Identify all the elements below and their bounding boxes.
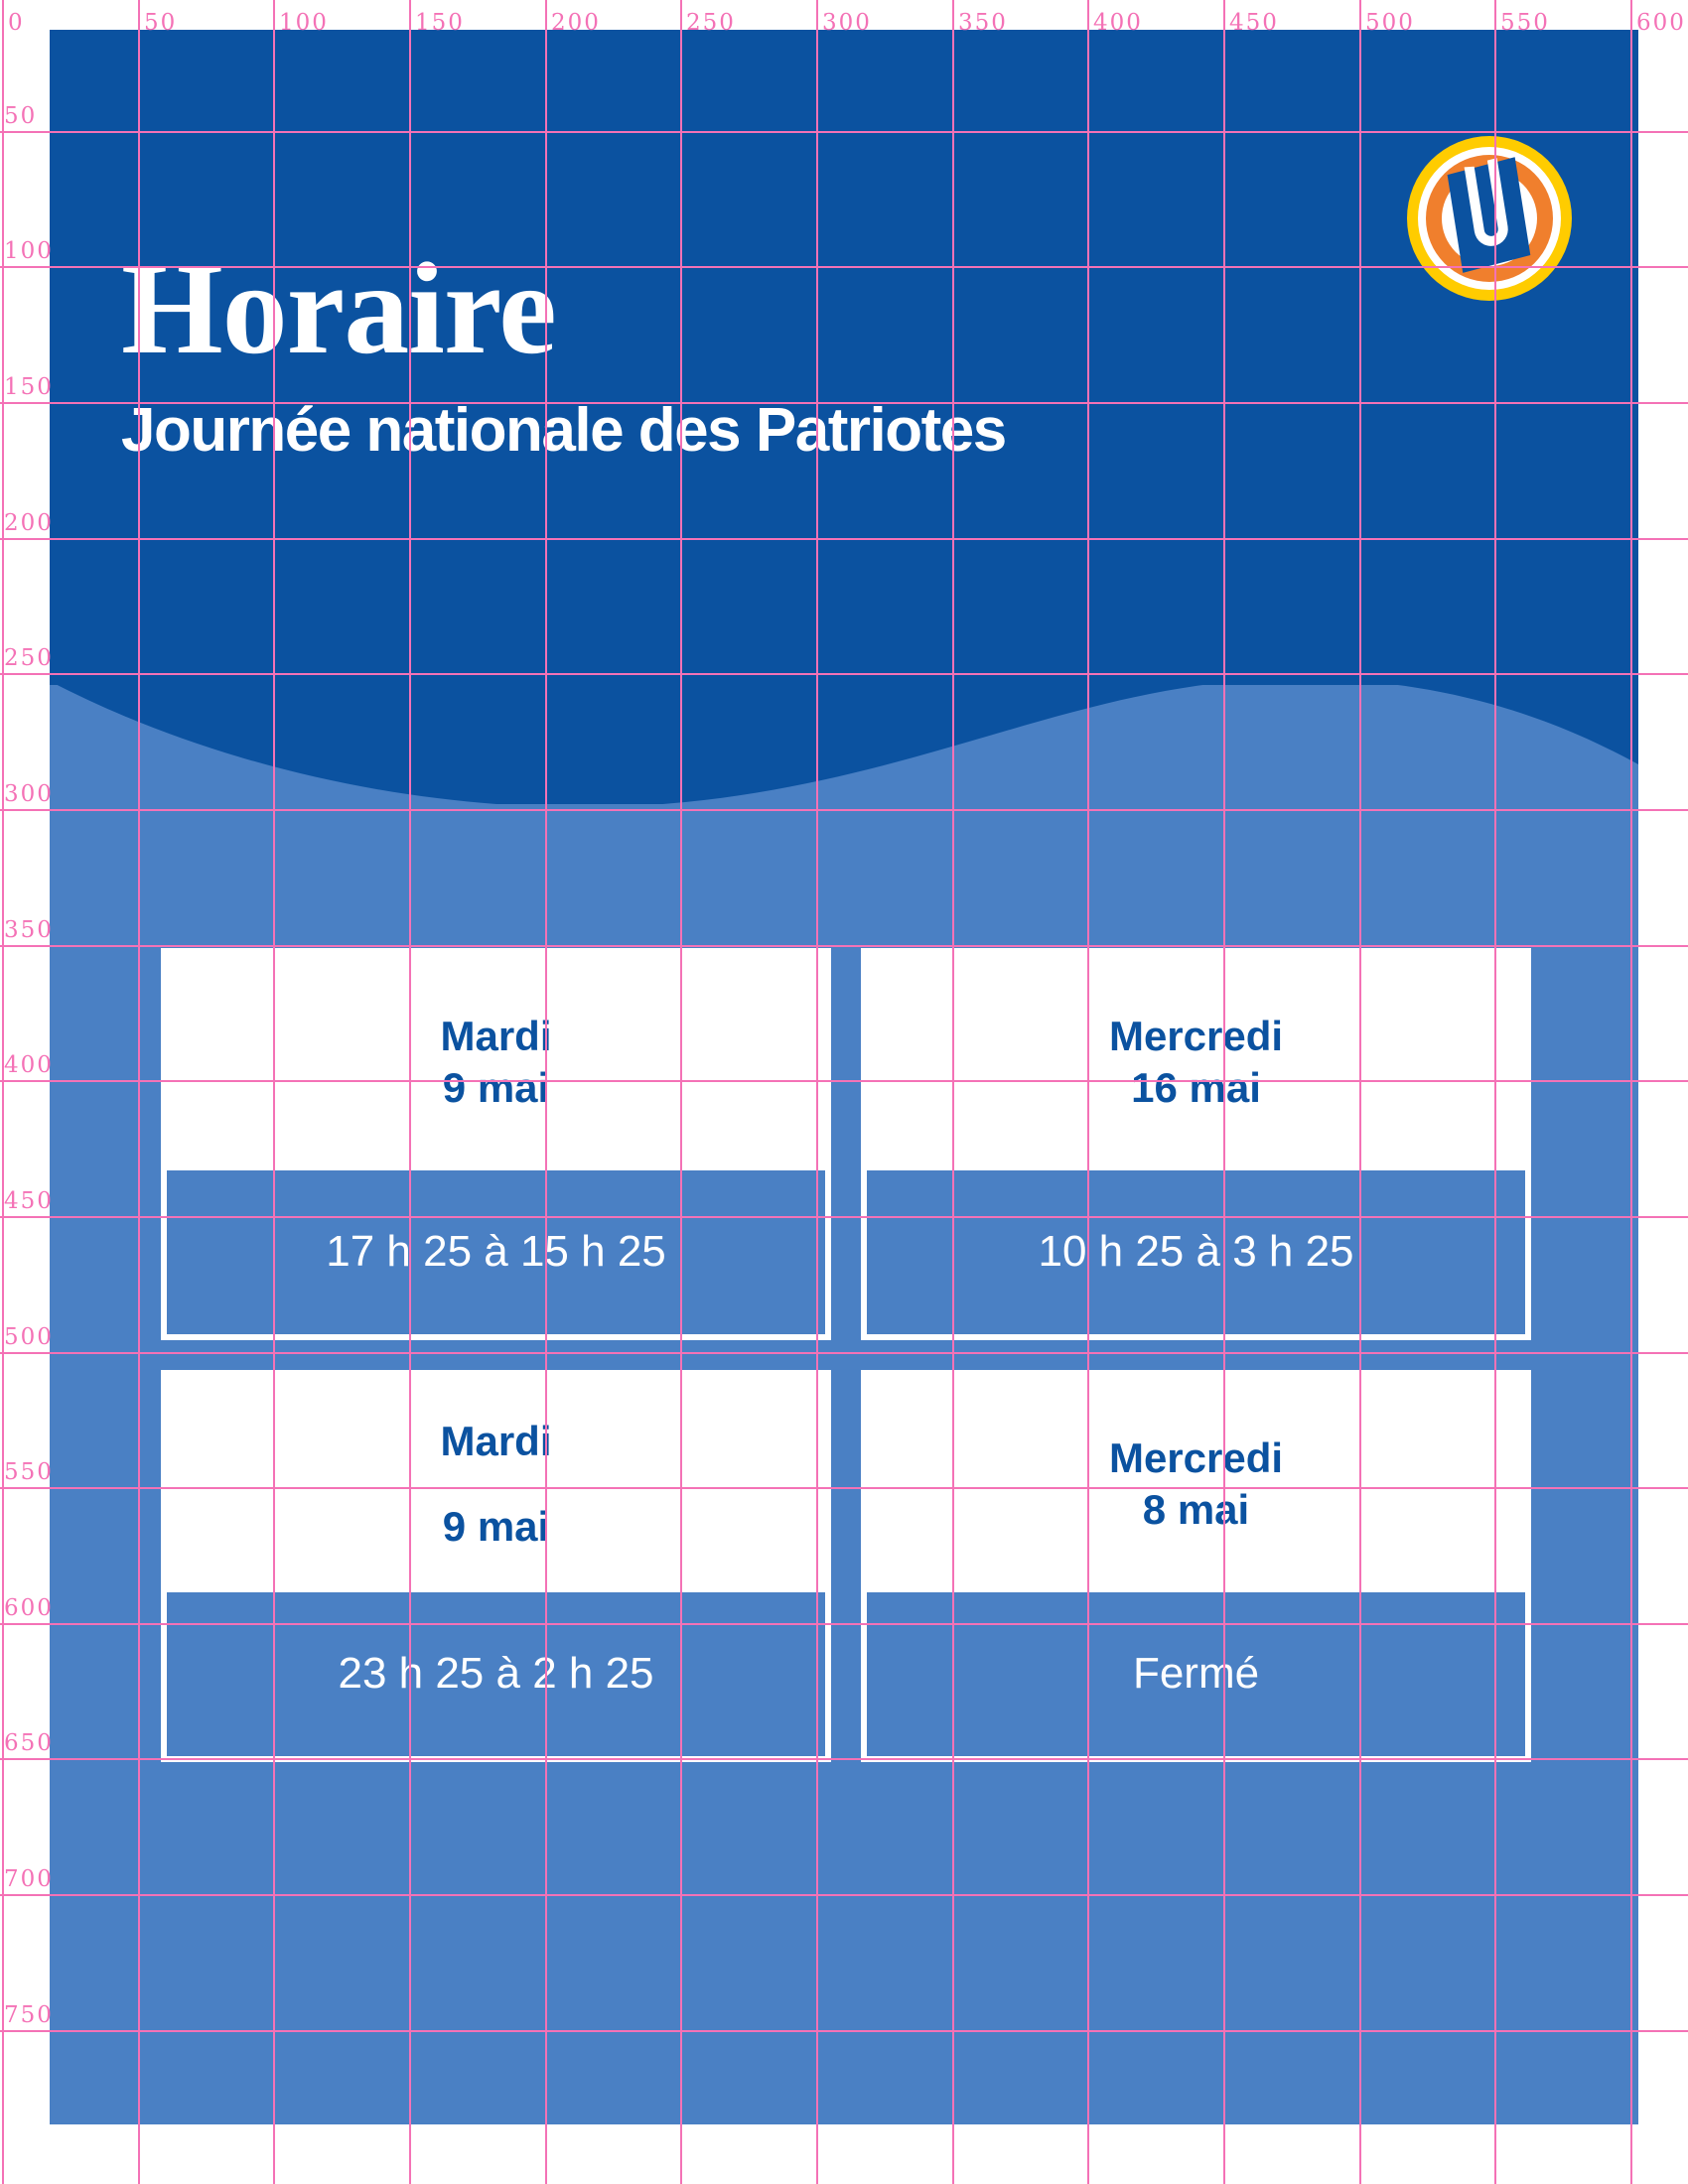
title-block: Horaire Journée nationale des Patriotes: [121, 243, 1412, 465]
page-title: Horaire: [121, 243, 1412, 374]
grid-label-y: 550: [4, 1461, 54, 1484]
grid-label-y: 200: [4, 512, 54, 535]
uqam-logo: [1405, 134, 1574, 303]
card-day-block: Mercredi 8 mai: [867, 1376, 1525, 1592]
grid-label-y: 250: [4, 647, 54, 670]
card-day-block: Mercredi 16 mai: [867, 954, 1525, 1170]
grid-label-y: 350: [4, 919, 54, 942]
card-day-date: 9 mai: [443, 1484, 549, 1570]
grid-label-y: 650: [4, 1732, 54, 1755]
grid-label-x: 600: [1636, 12, 1686, 35]
card-day-date: 8 mai: [1143, 1484, 1249, 1537]
card-hours: 17 h 25 à 15 h 25: [167, 1170, 825, 1334]
schedule-poster: Horaire Journée nationale des Patriotes …: [50, 30, 1638, 2124]
card-day-date: 16 mai: [1131, 1062, 1261, 1115]
card-day-block: Mardi 9 mai: [167, 1376, 825, 1592]
wave-divider: [50, 625, 1638, 804]
card-day-name: Mercredi: [1109, 1433, 1283, 1485]
grid-label-y: 100: [4, 240, 54, 263]
card-day-date: 9 mai: [443, 1062, 549, 1115]
grid-line-vertical: [2, 0, 4, 2184]
card-hours: Fermé: [867, 1592, 1525, 1756]
grid-label-y: 600: [4, 1597, 54, 1620]
schedule-card-grid: Mardi 9 mai 17 h 25 à 15 h 25 Mercredi 1…: [161, 948, 1531, 1762]
grid-label-y: 450: [4, 1190, 54, 1213]
grid-label-y: 400: [4, 1054, 54, 1077]
schedule-card: Mardi 9 mai 23 h 25 à 2 h 25: [161, 1370, 831, 1762]
card-hours: 23 h 25 à 2 h 25: [167, 1592, 825, 1756]
grid-label-y: 700: [4, 1868, 54, 1891]
card-day-name: Mardi: [440, 1011, 551, 1063]
card-day-name: Mercredi: [1109, 1011, 1283, 1063]
page-subtitle: Journée nationale des Patriotes: [121, 398, 1412, 465]
card-day-block: Mardi 9 mai: [167, 954, 825, 1170]
grid-label-x: 0: [8, 12, 25, 35]
schedule-card: Mercredi 8 mai Fermé: [861, 1370, 1531, 1762]
schedule-card: Mardi 9 mai 17 h 25 à 15 h 25: [161, 948, 831, 1340]
schedule-card: Mercredi 16 mai 10 h 25 à 3 h 25: [861, 948, 1531, 1340]
card-day-name: Mardi: [440, 1399, 551, 1484]
grid-label-y: 50: [4, 105, 37, 128]
grid-label-y: 300: [4, 783, 54, 806]
card-hours: 10 h 25 à 3 h 25: [867, 1170, 1525, 1334]
grid-label-y: 500: [4, 1326, 54, 1349]
grid-label-y: 750: [4, 2004, 54, 2027]
screenshot-root: Horaire Journée nationale des Patriotes …: [0, 0, 1688, 2184]
grid-label-y: 150: [4, 376, 54, 399]
